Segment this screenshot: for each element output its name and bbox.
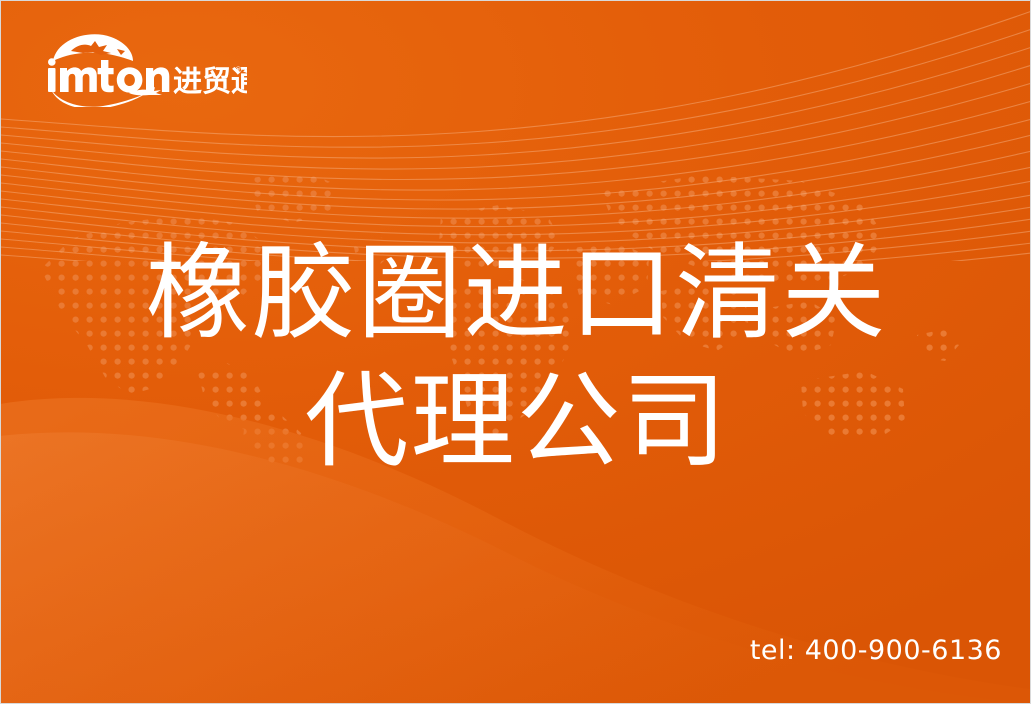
logo-wordmark-latin <box>48 58 169 92</box>
page-title: 橡胶圈进口清关 代理公司 <box>1 229 1031 485</box>
globe-arc-icon <box>53 34 133 61</box>
headline-line-2: 代理公司 <box>1 357 1031 485</box>
headline-line-1: 橡胶圈进口清关 <box>1 229 1031 357</box>
registered-mark-icon: ® <box>235 65 242 75</box>
brand-logo[interactable]: 进贸通 ® <box>37 27 247 107</box>
promo-banner: 进贸通 ® 橡胶圈进口清关 代理公司 tel: 400-900-6136 <box>0 0 1031 704</box>
contact-phone: tel: 400-900-6136 <box>750 635 1002 667</box>
